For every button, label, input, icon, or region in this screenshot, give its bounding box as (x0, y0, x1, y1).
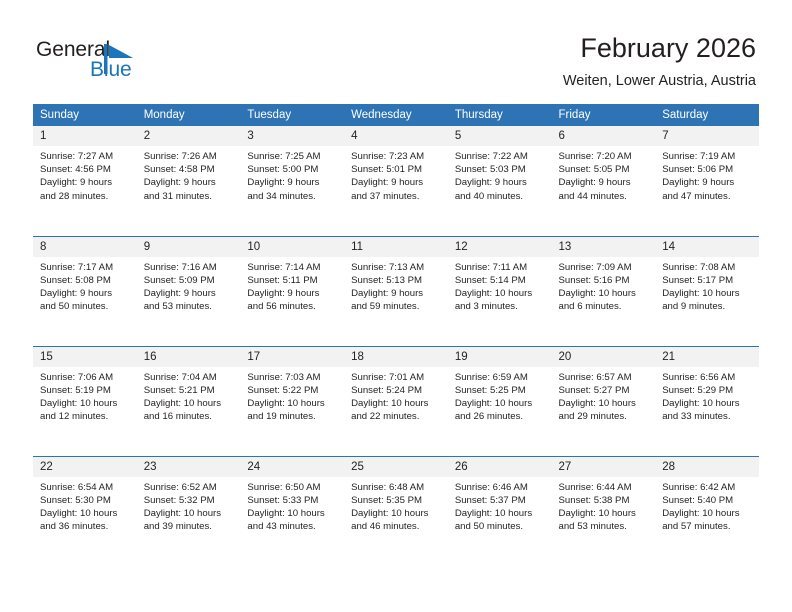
day-cell[interactable]: 21 Sunrise: 6:56 AM Sunset: 5:29 PM Dayl… (655, 346, 759, 456)
daylight-text-line2: and 31 minutes. (144, 190, 235, 203)
calendar-week-row: 22 Sunrise: 6:54 AM Sunset: 5:30 PM Dayl… (33, 456, 759, 566)
sunrise-text: Sunrise: 6:42 AM (662, 481, 753, 494)
daylight-text-line1: Daylight: 10 hours (559, 507, 650, 520)
sunset-text: Sunset: 5:17 PM (662, 274, 753, 287)
sunrise-text: Sunrise: 7:25 AM (247, 150, 338, 163)
daylight-text-line1: Daylight: 10 hours (455, 287, 546, 300)
daylight-text-line1: Daylight: 10 hours (351, 507, 442, 520)
daylight-text-line2: and 53 minutes. (559, 520, 650, 533)
sunrise-text: Sunrise: 7:23 AM (351, 150, 442, 163)
day-cell[interactable]: 11 Sunrise: 7:13 AM Sunset: 5:13 PM Dayl… (344, 236, 448, 346)
daylight-text-line2: and 39 minutes. (144, 520, 235, 533)
day-number: 26 (448, 457, 552, 477)
sunrise-text: Sunrise: 7:09 AM (559, 261, 650, 274)
day-number: 1 (33, 126, 137, 146)
day-cell[interactable]: 9 Sunrise: 7:16 AM Sunset: 5:09 PM Dayli… (137, 236, 241, 346)
sunset-text: Sunset: 5:25 PM (455, 384, 546, 397)
day-info: Sunrise: 7:16 AM Sunset: 5:09 PM Dayligh… (137, 257, 241, 314)
sunset-text: Sunset: 5:37 PM (455, 494, 546, 507)
sunrise-text: Sunrise: 7:14 AM (247, 261, 338, 274)
daylight-text-line2: and 43 minutes. (247, 520, 338, 533)
daylight-text-line1: Daylight: 9 hours (662, 176, 753, 189)
sunrise-text: Sunrise: 6:56 AM (662, 371, 753, 384)
daylight-text-line1: Daylight: 9 hours (559, 176, 650, 189)
daylight-text-line2: and 50 minutes. (40, 300, 131, 313)
sunset-text: Sunset: 5:24 PM (351, 384, 442, 397)
sunset-text: Sunset: 5:05 PM (559, 163, 650, 176)
day-number: 3 (240, 126, 344, 146)
day-number: 22 (33, 457, 137, 477)
day-number: 27 (552, 457, 656, 477)
daylight-text-line2: and 44 minutes. (559, 190, 650, 203)
day-cell[interactable]: 14 Sunrise: 7:08 AM Sunset: 5:17 PM Dayl… (655, 236, 759, 346)
calendar-page: General Blue February 2026 Weiten, Lower… (0, 0, 792, 612)
calendar-week-row: 15 Sunrise: 7:06 AM Sunset: 5:19 PM Dayl… (33, 346, 759, 456)
day-number: 11 (344, 237, 448, 257)
day-number: 14 (655, 237, 759, 257)
sunrise-text: Sunrise: 7:22 AM (455, 150, 546, 163)
day-info: Sunrise: 7:25 AM Sunset: 5:00 PM Dayligh… (240, 146, 344, 203)
daylight-text-line1: Daylight: 9 hours (455, 176, 546, 189)
daylight-text-line1: Daylight: 9 hours (40, 176, 131, 189)
daylight-text-line1: Daylight: 10 hours (455, 397, 546, 410)
day-cell[interactable]: 25 Sunrise: 6:48 AM Sunset: 5:35 PM Dayl… (344, 456, 448, 566)
sunrise-text: Sunrise: 7:01 AM (351, 371, 442, 384)
daylight-text-line2: and 3 minutes. (455, 300, 546, 313)
sunrise-text: Sunrise: 7:08 AM (662, 261, 753, 274)
sunset-text: Sunset: 5:30 PM (40, 494, 131, 507)
day-info: Sunrise: 7:19 AM Sunset: 5:06 PM Dayligh… (655, 146, 759, 203)
sunset-text: Sunset: 5:40 PM (662, 494, 753, 507)
weekday-header-wednesday: Wednesday (344, 104, 448, 126)
day-cell[interactable]: 18 Sunrise: 7:01 AM Sunset: 5:24 PM Dayl… (344, 346, 448, 456)
day-info: Sunrise: 7:08 AM Sunset: 5:17 PM Dayligh… (655, 257, 759, 314)
day-number: 4 (344, 126, 448, 146)
daylight-text-line1: Daylight: 10 hours (559, 397, 650, 410)
daylight-text-line1: Daylight: 10 hours (455, 507, 546, 520)
daylight-text-line1: Daylight: 10 hours (351, 397, 442, 410)
daylight-text-line2: and 12 minutes. (40, 410, 131, 423)
weekday-header-sunday: Sunday (33, 104, 137, 126)
sunrise-text: Sunrise: 6:52 AM (144, 481, 235, 494)
sunset-text: Sunset: 5:03 PM (455, 163, 546, 176)
sunset-text: Sunset: 5:29 PM (662, 384, 753, 397)
daylight-text-line2: and 50 minutes. (455, 520, 546, 533)
sunrise-text: Sunrise: 6:54 AM (40, 481, 131, 494)
weekday-header-thursday: Thursday (448, 104, 552, 126)
sunrise-text: Sunrise: 6:46 AM (455, 481, 546, 494)
daylight-text-line2: and 34 minutes. (247, 190, 338, 203)
day-number: 9 (137, 237, 241, 257)
daylight-text-line1: Daylight: 9 hours (351, 287, 442, 300)
day-cell[interactable]: 8 Sunrise: 7:17 AM Sunset: 5:08 PM Dayli… (33, 236, 137, 346)
day-number: 19 (448, 347, 552, 367)
daylight-text-line1: Daylight: 10 hours (144, 507, 235, 520)
weekday-header-friday: Friday (552, 104, 656, 126)
day-number: 15 (33, 347, 137, 367)
sunrise-text: Sunrise: 6:44 AM (559, 481, 650, 494)
daylight-text-line1: Daylight: 9 hours (144, 176, 235, 189)
sunset-text: Sunset: 5:16 PM (559, 274, 650, 287)
day-cell[interactable]: 17 Sunrise: 7:03 AM Sunset: 5:22 PM Dayl… (240, 346, 344, 456)
day-info: Sunrise: 7:01 AM Sunset: 5:24 PM Dayligh… (344, 367, 448, 424)
day-cell[interactable]: 15 Sunrise: 7:06 AM Sunset: 5:19 PM Dayl… (33, 346, 137, 456)
daylight-text-line1: Daylight: 10 hours (662, 507, 753, 520)
daylight-text-line1: Daylight: 9 hours (351, 176, 442, 189)
day-info: Sunrise: 7:20 AM Sunset: 5:05 PM Dayligh… (552, 146, 656, 203)
calendar-header-row: Sunday Monday Tuesday Wednesday Thursday… (33, 104, 759, 126)
day-info: Sunrise: 7:04 AM Sunset: 5:21 PM Dayligh… (137, 367, 241, 424)
daylight-text-line2: and 46 minutes. (351, 520, 442, 533)
brand-logo[interactable]: General Blue (36, 38, 166, 86)
daylight-text-line2: and 56 minutes. (247, 300, 338, 313)
day-info: Sunrise: 7:11 AM Sunset: 5:14 PM Dayligh… (448, 257, 552, 314)
daylight-text-line2: and 47 minutes. (662, 190, 753, 203)
day-info: Sunrise: 6:59 AM Sunset: 5:25 PM Dayligh… (448, 367, 552, 424)
day-info: Sunrise: 6:57 AM Sunset: 5:27 PM Dayligh… (552, 367, 656, 424)
daylight-text-line1: Daylight: 10 hours (40, 397, 131, 410)
sunrise-text: Sunrise: 7:16 AM (144, 261, 235, 274)
day-number: 25 (344, 457, 448, 477)
sunset-text: Sunset: 4:58 PM (144, 163, 235, 176)
location-subtitle: Weiten, Lower Austria, Austria (236, 72, 756, 90)
sunset-text: Sunset: 5:33 PM (247, 494, 338, 507)
title-block: February 2026 Weiten, Lower Austria, Aus… (236, 32, 756, 90)
day-info: Sunrise: 7:09 AM Sunset: 5:16 PM Dayligh… (552, 257, 656, 314)
daylight-text-line2: and 28 minutes. (40, 190, 131, 203)
sunset-text: Sunset: 5:19 PM (40, 384, 131, 397)
sunset-text: Sunset: 5:38 PM (559, 494, 650, 507)
sunrise-text: Sunrise: 7:06 AM (40, 371, 131, 384)
calendar-week-row: 8 Sunrise: 7:17 AM Sunset: 5:08 PM Dayli… (33, 236, 759, 346)
day-cell[interactable]: 1 Sunrise: 7:27 AM Sunset: 4:56 PM Dayli… (33, 126, 137, 236)
sunrise-text: Sunrise: 6:50 AM (247, 481, 338, 494)
sunset-text: Sunset: 5:01 PM (351, 163, 442, 176)
daylight-text-line2: and 6 minutes. (559, 300, 650, 313)
day-cell[interactable]: 10 Sunrise: 7:14 AM Sunset: 5:11 PM Dayl… (240, 236, 344, 346)
weekday-header-saturday: Saturday (655, 104, 759, 126)
sunset-text: Sunset: 5:00 PM (247, 163, 338, 176)
day-cell[interactable]: 7 Sunrise: 7:19 AM Sunset: 5:06 PM Dayli… (655, 126, 759, 236)
calendar-body: 1 Sunrise: 7:27 AM Sunset: 4:56 PM Dayli… (33, 126, 759, 566)
sunrise-text: Sunrise: 6:57 AM (559, 371, 650, 384)
day-info: Sunrise: 7:14 AM Sunset: 5:11 PM Dayligh… (240, 257, 344, 314)
daylight-text-line1: Daylight: 10 hours (247, 507, 338, 520)
sunset-text: Sunset: 5:32 PM (144, 494, 235, 507)
daylight-text-line2: and 33 minutes. (662, 410, 753, 423)
daylight-text-line1: Daylight: 9 hours (144, 287, 235, 300)
sunset-text: Sunset: 5:21 PM (144, 384, 235, 397)
day-info: Sunrise: 6:46 AM Sunset: 5:37 PM Dayligh… (448, 477, 552, 534)
day-info: Sunrise: 7:06 AM Sunset: 5:19 PM Dayligh… (33, 367, 137, 424)
day-cell[interactable]: 23 Sunrise: 6:52 AM Sunset: 5:32 PM Dayl… (137, 456, 241, 566)
day-info: Sunrise: 6:52 AM Sunset: 5:32 PM Dayligh… (137, 477, 241, 534)
day-cell[interactable]: 2 Sunrise: 7:26 AM Sunset: 4:58 PM Dayli… (137, 126, 241, 236)
daylight-text-line2: and 59 minutes. (351, 300, 442, 313)
day-cell[interactable]: 19 Sunrise: 6:59 AM Sunset: 5:25 PM Dayl… (448, 346, 552, 456)
sunrise-text: Sunrise: 6:48 AM (351, 481, 442, 494)
sunrise-text: Sunrise: 6:59 AM (455, 371, 546, 384)
daylight-text-line1: Daylight: 10 hours (559, 287, 650, 300)
day-number: 21 (655, 347, 759, 367)
daylight-text-line2: and 37 minutes. (351, 190, 442, 203)
daylight-text-line2: and 9 minutes. (662, 300, 753, 313)
sunrise-text: Sunrise: 7:17 AM (40, 261, 131, 274)
daylight-text-line2: and 29 minutes. (559, 410, 650, 423)
daylight-text-line1: Daylight: 10 hours (40, 507, 131, 520)
day-info: Sunrise: 6:56 AM Sunset: 5:29 PM Dayligh… (655, 367, 759, 424)
day-info: Sunrise: 6:44 AM Sunset: 5:38 PM Dayligh… (552, 477, 656, 534)
daylight-text-line1: Daylight: 9 hours (40, 287, 131, 300)
day-info: Sunrise: 7:23 AM Sunset: 5:01 PM Dayligh… (344, 146, 448, 203)
sunrise-text: Sunrise: 7:26 AM (144, 150, 235, 163)
day-number: 2 (137, 126, 241, 146)
day-info: Sunrise: 6:42 AM Sunset: 5:40 PM Dayligh… (655, 477, 759, 534)
day-cell[interactable]: 4 Sunrise: 7:23 AM Sunset: 5:01 PM Dayli… (344, 126, 448, 236)
day-cell[interactable]: 5 Sunrise: 7:22 AM Sunset: 5:03 PM Dayli… (448, 126, 552, 236)
sunset-text: Sunset: 5:08 PM (40, 274, 131, 287)
day-cell[interactable]: 24 Sunrise: 6:50 AM Sunset: 5:33 PM Dayl… (240, 456, 344, 566)
day-info: Sunrise: 6:48 AM Sunset: 5:35 PM Dayligh… (344, 477, 448, 534)
sunrise-text: Sunrise: 7:04 AM (144, 371, 235, 384)
daylight-text-line2: and 26 minutes. (455, 410, 546, 423)
day-number: 24 (240, 457, 344, 477)
page-title: February 2026 (236, 32, 756, 64)
daylight-text-line1: Daylight: 10 hours (662, 287, 753, 300)
sunset-text: Sunset: 5:22 PM (247, 384, 338, 397)
brand-name-blue: Blue (90, 58, 132, 82)
daylight-text-line1: Daylight: 10 hours (247, 397, 338, 410)
daylight-text-line1: Daylight: 10 hours (144, 397, 235, 410)
day-info: Sunrise: 6:50 AM Sunset: 5:33 PM Dayligh… (240, 477, 344, 534)
page-header: General Blue February 2026 Weiten, Lower… (0, 0, 792, 100)
sunrise-text: Sunrise: 7:27 AM (40, 150, 131, 163)
sunset-text: Sunset: 5:09 PM (144, 274, 235, 287)
day-cell[interactable]: 6 Sunrise: 7:20 AM Sunset: 5:05 PM Dayli… (552, 126, 656, 236)
day-number: 28 (655, 457, 759, 477)
calendar-week-row: 1 Sunrise: 7:27 AM Sunset: 4:56 PM Dayli… (33, 126, 759, 236)
daylight-text-line2: and 57 minutes. (662, 520, 753, 533)
day-number: 5 (448, 126, 552, 146)
weekday-header-monday: Monday (137, 104, 241, 126)
daylight-text-line2: and 19 minutes. (247, 410, 338, 423)
daylight-text-line1: Daylight: 9 hours (247, 176, 338, 189)
day-info: Sunrise: 6:54 AM Sunset: 5:30 PM Dayligh… (33, 477, 137, 534)
calendar-table: Sunday Monday Tuesday Wednesday Thursday… (33, 104, 759, 566)
weekday-header-tuesday: Tuesday (240, 104, 344, 126)
sunset-text: Sunset: 5:06 PM (662, 163, 753, 176)
day-number: 17 (240, 347, 344, 367)
day-number: 8 (33, 237, 137, 257)
day-cell[interactable]: 12 Sunrise: 7:11 AM Sunset: 5:14 PM Dayl… (448, 236, 552, 346)
day-cell[interactable]: 26 Sunrise: 6:46 AM Sunset: 5:37 PM Dayl… (448, 456, 552, 566)
day-number: 10 (240, 237, 344, 257)
daylight-text-line1: Daylight: 9 hours (247, 287, 338, 300)
day-number: 7 (655, 126, 759, 146)
sunset-text: Sunset: 5:35 PM (351, 494, 442, 507)
sunrise-text: Sunrise: 7:11 AM (455, 261, 546, 274)
daylight-text-line1: Daylight: 10 hours (662, 397, 753, 410)
daylight-text-line2: and 16 minutes. (144, 410, 235, 423)
day-cell[interactable]: 16 Sunrise: 7:04 AM Sunset: 5:21 PM Dayl… (137, 346, 241, 456)
day-number: 23 (137, 457, 241, 477)
sunset-text: Sunset: 4:56 PM (40, 163, 131, 176)
day-number: 13 (552, 237, 656, 257)
sunset-text: Sunset: 5:11 PM (247, 274, 338, 287)
sunrise-text: Sunrise: 7:13 AM (351, 261, 442, 274)
day-info: Sunrise: 7:26 AM Sunset: 4:58 PM Dayligh… (137, 146, 241, 203)
daylight-text-line2: and 36 minutes. (40, 520, 131, 533)
day-number: 12 (448, 237, 552, 257)
day-cell[interactable]: 22 Sunrise: 6:54 AM Sunset: 5:30 PM Dayl… (33, 456, 137, 566)
day-cell[interactable]: 28 Sunrise: 6:42 AM Sunset: 5:40 PM Dayl… (655, 456, 759, 566)
day-cell[interactable]: 13 Sunrise: 7:09 AM Sunset: 5:16 PM Dayl… (552, 236, 656, 346)
day-number: 20 (552, 347, 656, 367)
day-cell[interactable]: 20 Sunrise: 6:57 AM Sunset: 5:27 PM Dayl… (552, 346, 656, 456)
day-number: 16 (137, 347, 241, 367)
sunset-text: Sunset: 5:13 PM (351, 274, 442, 287)
day-info: Sunrise: 7:22 AM Sunset: 5:03 PM Dayligh… (448, 146, 552, 203)
sunset-text: Sunset: 5:27 PM (559, 384, 650, 397)
day-cell[interactable]: 27 Sunrise: 6:44 AM Sunset: 5:38 PM Dayl… (552, 456, 656, 566)
sunrise-text: Sunrise: 7:20 AM (559, 150, 650, 163)
sunset-text: Sunset: 5:14 PM (455, 274, 546, 287)
day-info: Sunrise: 7:27 AM Sunset: 4:56 PM Dayligh… (33, 146, 137, 203)
day-number: 18 (344, 347, 448, 367)
day-number: 6 (552, 126, 656, 146)
daylight-text-line2: and 22 minutes. (351, 410, 442, 423)
daylight-text-line2: and 53 minutes. (144, 300, 235, 313)
day-cell[interactable]: 3 Sunrise: 7:25 AM Sunset: 5:00 PM Dayli… (240, 126, 344, 236)
day-info: Sunrise: 7:13 AM Sunset: 5:13 PM Dayligh… (344, 257, 448, 314)
daylight-text-line2: and 40 minutes. (455, 190, 546, 203)
day-info: Sunrise: 7:03 AM Sunset: 5:22 PM Dayligh… (240, 367, 344, 424)
sunrise-text: Sunrise: 7:19 AM (662, 150, 753, 163)
day-info: Sunrise: 7:17 AM Sunset: 5:08 PM Dayligh… (33, 257, 137, 314)
sunrise-text: Sunrise: 7:03 AM (247, 371, 338, 384)
